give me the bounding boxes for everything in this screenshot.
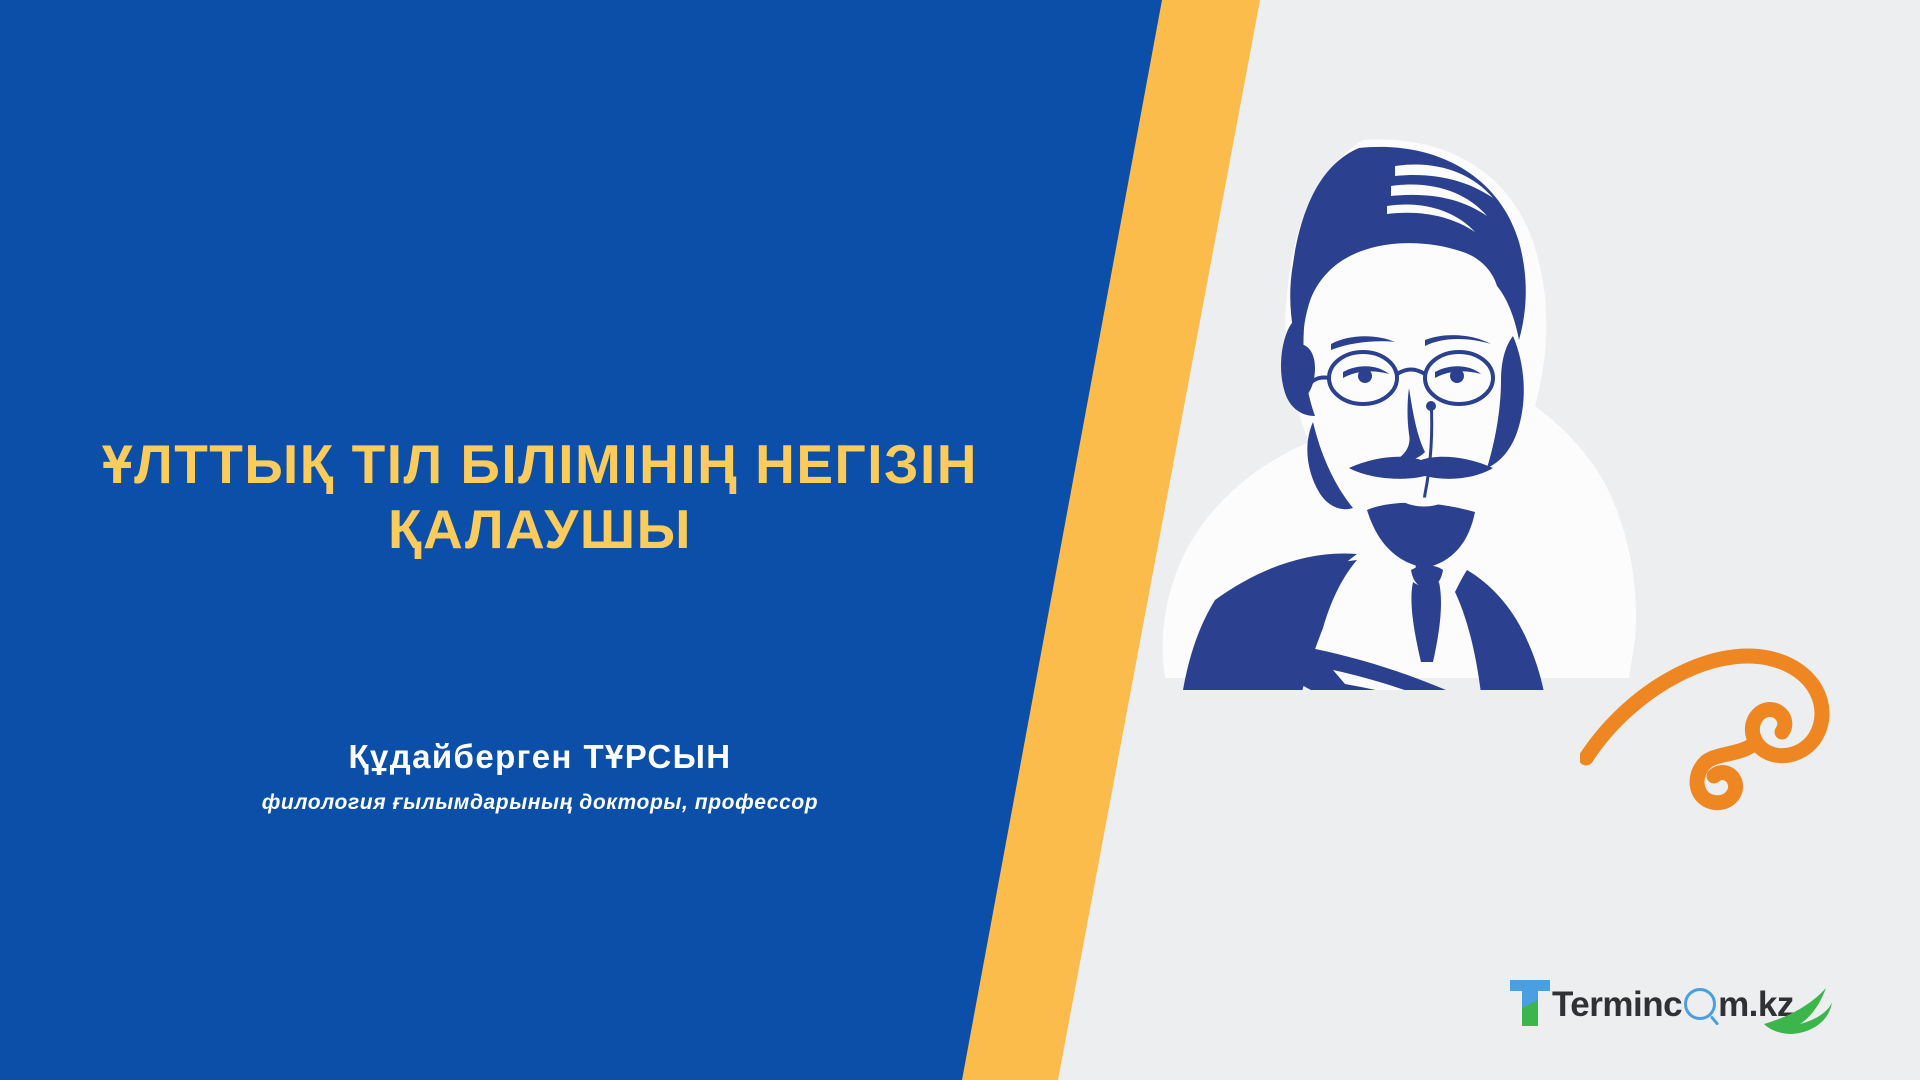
logo-swoosh-icon xyxy=(1764,974,1834,1034)
logo-t-icon xyxy=(1508,978,1554,1030)
magnifier-icon xyxy=(1684,988,1716,1020)
termincom-logo-mark xyxy=(1508,978,1554,1030)
speaker-credentials: филология ғылымдарының докторы, профессо… xyxy=(60,790,1020,815)
ornament-svg xyxy=(1580,630,1910,830)
page-title: ҰЛТТЫҚ ТІЛ БІЛІМІНІҢ НЕГІЗІН ҚАЛАУШЫ xyxy=(60,432,1020,562)
speaker-block: Құдайберген ТҰРСЫН филология ғылымдарыны… xyxy=(60,738,1020,815)
portrait-svg xyxy=(1095,130,1655,690)
kazakh-swirl-ornament xyxy=(1580,630,1910,830)
logo-text-part-1: Termin xyxy=(1552,987,1663,1022)
title-block: ҰЛТТЫҚ ТІЛ БІЛІМІНІҢ НЕГІЗІН ҚАЛАУШЫ xyxy=(60,432,1020,562)
portrait-illustration xyxy=(1095,130,1655,690)
slide-canvas: Termincm.kz ҰЛТТЫҚ ТІЛ БІЛІМІНІҢ НЕГІЗІН… xyxy=(0,0,1920,1080)
logo-text-part-2: c xyxy=(1663,987,1682,1022)
termincom-logo-text: Termincm.kz xyxy=(1552,987,1794,1022)
portrait-ink xyxy=(1163,139,1636,690)
speaker-name: Құдайберген ТҰРСЫН xyxy=(60,738,1020,776)
termincom-logo[interactable]: Termincm.kz xyxy=(1508,968,1828,1040)
